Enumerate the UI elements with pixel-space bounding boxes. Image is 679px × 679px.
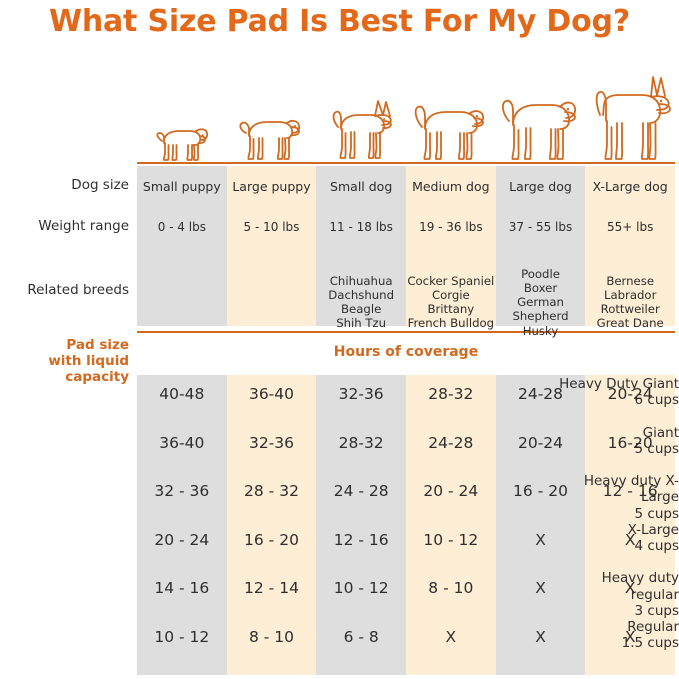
pad-row-name: Heavy duty X-Large [550, 473, 679, 505]
cell-dog-size: Small puppy [137, 179, 227, 194]
xlarge-dog-icon [585, 70, 675, 163]
cell-hours-of-coverage: 10 - 12 [137, 628, 227, 647]
cell-hours-of-coverage: 6 - 8 [316, 628, 406, 647]
cell-dog-size: X-Large dog [585, 179, 675, 194]
section-divider-rule [137, 331, 675, 333]
cell-weight-range: 37 - 55 lbs [496, 220, 586, 235]
pad-row-capacity: 1.5 cups [550, 635, 679, 651]
cell-hours-of-coverage: 8 - 10 [406, 579, 496, 598]
cell-weight-range: 11 - 18 lbs [316, 220, 406, 235]
cell-hours-of-coverage: 16 - 20 [227, 531, 317, 550]
row-label-dog-size: Dog size [0, 177, 129, 193]
cell-hours-of-coverage: 24-28 [406, 434, 496, 453]
cell-dog-size: Large dog [496, 179, 586, 194]
pad-row-label: Heavy duty X-Large5 cups [550, 473, 679, 522]
breed-name: French Bulldog [406, 316, 496, 330]
cell-hours-of-coverage: 12 - 16 [316, 531, 406, 550]
pad-row-capacity: 6 cups [550, 392, 679, 408]
row-label-weight-range: Weight range [0, 218, 129, 234]
cell-weight-range: 55+ lbs [585, 220, 675, 235]
cell-hours-of-coverage: 36-40 [137, 434, 227, 453]
row-label-pad-size: Pad size with liquid capacity [0, 337, 129, 386]
breed-name: Shih Tzu [316, 316, 406, 330]
cell-weight-range: 19 - 36 lbs [406, 220, 496, 235]
cell-dog-size: Medium dog [406, 179, 496, 194]
breed-name: Dachshund [316, 288, 406, 302]
cell-weight-range: 0 - 4 lbs [137, 220, 227, 235]
cell-dog-size: Small dog [316, 179, 406, 194]
breed-name: Labrador [585, 288, 675, 302]
pad-row-capacity: 5 cups [550, 441, 679, 457]
breed-name: Beagle [316, 302, 406, 316]
breed-name: Chihuahua [316, 274, 406, 288]
cell-weight-range: 5 - 10 lbs [227, 220, 317, 235]
cell-related-breeds: PoodleBoxerGermanShepherdHusky [496, 267, 586, 338]
pad-row-label: X-Large4 cups [550, 522, 679, 554]
breed-name: Brittany [406, 302, 496, 316]
cell-hours-of-coverage: 24 - 28 [316, 482, 406, 501]
cell-related-breeds: ChihuahuaDachshundBeagleShih Tzu [316, 274, 406, 331]
cell-hours-of-coverage: 32-36 [227, 434, 317, 453]
pad-size-line1: Pad size [0, 337, 129, 353]
cell-hours-of-coverage: 28-32 [406, 385, 496, 404]
breed-name: Corgie [406, 288, 496, 302]
pad-row-name: X-Large [550, 522, 679, 538]
pad-row-capacity: 3 cups [550, 603, 679, 619]
row-label-related-breeds: Related breeds [0, 282, 129, 298]
small-dog-icon [316, 70, 406, 163]
cell-hours-of-coverage: 36-40 [227, 385, 317, 404]
cell-hours-of-coverage: 20 - 24 [137, 531, 227, 550]
large-dog-icon [496, 70, 586, 163]
cell-hours-of-coverage: 14 - 16 [137, 579, 227, 598]
cell-hours-of-coverage: 28 - 32 [227, 482, 317, 501]
breed-name: Cocker Spaniel [406, 274, 496, 288]
cell-hours-of-coverage: X [406, 628, 496, 647]
large-puppy-icon [227, 70, 317, 163]
pad-row-capacity: 4 cups [550, 538, 679, 554]
breed-name: Shepherd [496, 309, 586, 323]
cell-hours-of-coverage: 32-36 [316, 385, 406, 404]
pad-row-name: Heavy duty regular [550, 570, 679, 602]
pad-row-label: Giant5 cups [550, 425, 679, 457]
row-label-column: Dog size Weight range Related breeds Pad… [0, 0, 129, 679]
pad-size-line2: with liquid capacity [0, 353, 129, 385]
pad-row-capacity: 5 cups [550, 506, 679, 522]
medium-dog-icon [406, 70, 496, 163]
breed-name: Boxer [496, 281, 586, 295]
breed-name: Great Dane [585, 316, 675, 330]
breed-name: Rottweiler [585, 302, 675, 316]
pad-row-label: Heavy Duty Giant6 cups [550, 376, 679, 408]
cell-hours-of-coverage: 10 - 12 [406, 531, 496, 550]
cell-hours-of-coverage: 20 - 24 [406, 482, 496, 501]
pad-row-name: Heavy Duty Giant [550, 376, 679, 392]
pad-row-name: Regular [550, 619, 679, 635]
breed-name: Poodle [496, 267, 586, 281]
cell-hours-of-coverage: 40-48 [137, 385, 227, 404]
pad-row-label: Heavy duty regular3 cups [550, 570, 679, 619]
cell-related-breeds: BerneseLabradorRottweilerGreat Dane [585, 274, 675, 331]
breed-name: Bernese [585, 274, 675, 288]
dog-silhouette-row [137, 70, 675, 163]
cell-hours-of-coverage: 28-32 [316, 434, 406, 453]
pad-row-label: Regular1.5 cups [550, 619, 679, 651]
small-puppy-icon [137, 70, 227, 163]
cell-hours-of-coverage: 8 - 10 [227, 628, 317, 647]
cell-hours-of-coverage: 32 - 36 [137, 482, 227, 501]
breed-name: German [496, 295, 586, 309]
pad-row-name: Giant [550, 425, 679, 441]
hours-of-coverage-heading: Hours of coverage [137, 344, 675, 360]
breed-name: Husky [496, 324, 586, 338]
cell-hours-of-coverage: 10 - 12 [316, 579, 406, 598]
cell-dog-size: Large puppy [227, 179, 317, 194]
cell-hours-of-coverage: 12 - 14 [227, 579, 317, 598]
cell-related-breeds: Cocker SpanielCorgieBrittanyFrench Bulld… [406, 274, 496, 331]
